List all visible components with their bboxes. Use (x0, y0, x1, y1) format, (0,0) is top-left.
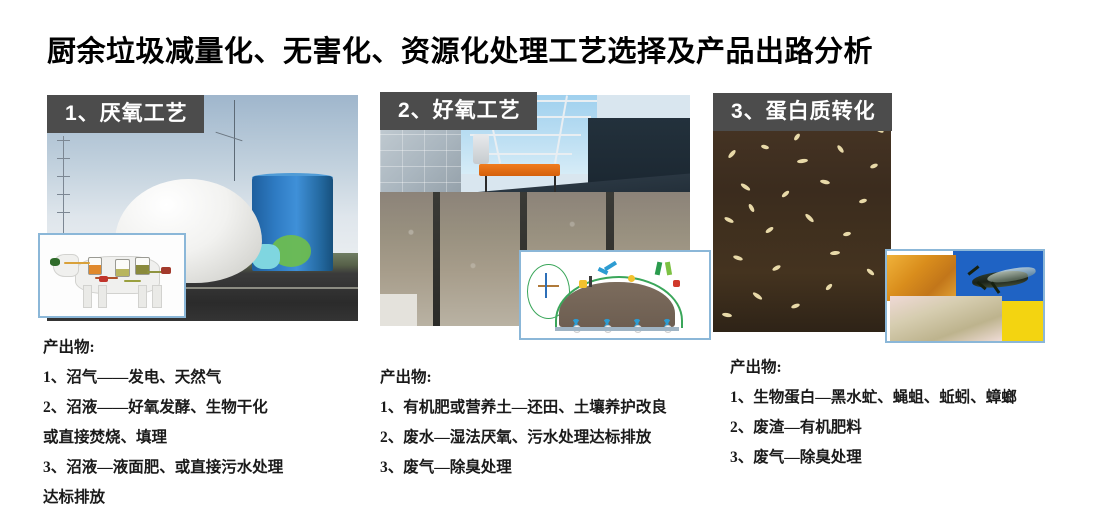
panel-badge-anaerobic: 1、厌氧工艺 (47, 95, 204, 133)
reactor-vessel (88, 257, 103, 275)
pale-larvae-photo-cell (890, 296, 1002, 341)
caption-line: 1、生物蛋白—黑水虻、蝇蛆、蚯蚓、蟑螂 (730, 383, 1080, 413)
ventilation-equipment (473, 134, 489, 164)
caption-line: 2、废水—湿法厌氧、污水处理达标排放 (380, 423, 720, 453)
yellow-color-block (1002, 301, 1043, 341)
pump-icon (99, 276, 108, 282)
sensor-marker (673, 280, 680, 287)
probe-icon (589, 276, 592, 287)
bed-channel (433, 192, 441, 326)
cow-leg (152, 285, 161, 308)
cycle-arm (538, 285, 559, 287)
aeration-floor (555, 327, 679, 331)
process-panel-aerobic: 2、好氧工艺 (380, 95, 690, 326)
caption-line: 2、废渣—有机肥料 (730, 413, 1080, 443)
slide-canvas: 厨余垃圾减量化、无害化、资源化处理工艺选择及产品出路分析 1、厌氧工艺 (0, 0, 1103, 522)
cow-leg (98, 285, 107, 308)
caption-heading: 产出物: (380, 363, 720, 393)
yellow-larvae-photo-cell (887, 255, 956, 302)
process-panel-anaerobic: 1、厌氧工艺 (47, 95, 358, 321)
output-icon (161, 267, 171, 273)
caption-protein: 产出物: 1、生物蛋白—黑水虻、蝇蛆、蚯蚓、蟑螂 2、废渣—有机肥料 3、废气—… (730, 353, 1080, 473)
cycle-stem (545, 273, 547, 299)
panel-badge-protein: 3、蛋白质转化 (713, 93, 892, 131)
caption-line: 达标排放 (43, 483, 373, 513)
caption-line: 1、有机肥或营养土—还田、土壤养护改良 (380, 393, 720, 423)
cow-digestion-diagram (38, 233, 186, 318)
feed-tube (64, 262, 90, 264)
caption-aerobic: 产出物: 1、有机肥或营养土—还田、土壤养护改良 2、废水—湿法厌氧、污水处理达… (380, 363, 720, 483)
caption-line: 3、沼液—液面肥、或直接污水处理 (43, 453, 373, 483)
page-title: 厨余垃圾减量化、无害化、资源化处理工艺选择及产品出路分析 (47, 32, 873, 72)
caption-line: 2、沼液——好氧发酵、生物干化 (43, 393, 373, 423)
caption-line: 或直接焚烧、填理 (43, 423, 373, 453)
temperature-marker (579, 280, 587, 288)
process-panel-protein: 3、蛋白质转化 产出物: 1、生物蛋白—黑水虻、蝇蛆、蚯蚓、蟑螂 2、废渣—有机… (713, 95, 891, 332)
roof-beam (479, 153, 572, 155)
transfer-tube (124, 280, 141, 282)
caption-line: 1、沼气——发电、天然气 (43, 363, 373, 393)
floor-edge (380, 294, 417, 326)
fly-antenna (967, 266, 979, 276)
membrane-composting-diagram (519, 250, 711, 340)
cow-leg (83, 285, 92, 308)
reactor-vessel (115, 259, 130, 277)
caption-heading: 产出物: (43, 333, 373, 363)
panel-badge-aerobic: 2、好氧工艺 (380, 92, 537, 130)
black-soldier-fly-collage (885, 249, 1045, 343)
feedstock-icon (50, 258, 60, 265)
cow-leg (138, 285, 147, 308)
antenna-mast-icon (234, 100, 235, 181)
caption-line: 3、废气—除臭处理 (730, 443, 1080, 473)
caption-heading: 产出物: (730, 353, 1080, 383)
orange-turner-machine (479, 164, 560, 176)
lattice-tower-icon (63, 136, 64, 249)
caption-anaerobic: 产出物: 1、沼气——发电、天然气 2、沼液——好氧发酵、生物干化 或直接焚烧、… (43, 333, 373, 513)
caption-line: 3、废气—除臭处理 (380, 453, 720, 483)
